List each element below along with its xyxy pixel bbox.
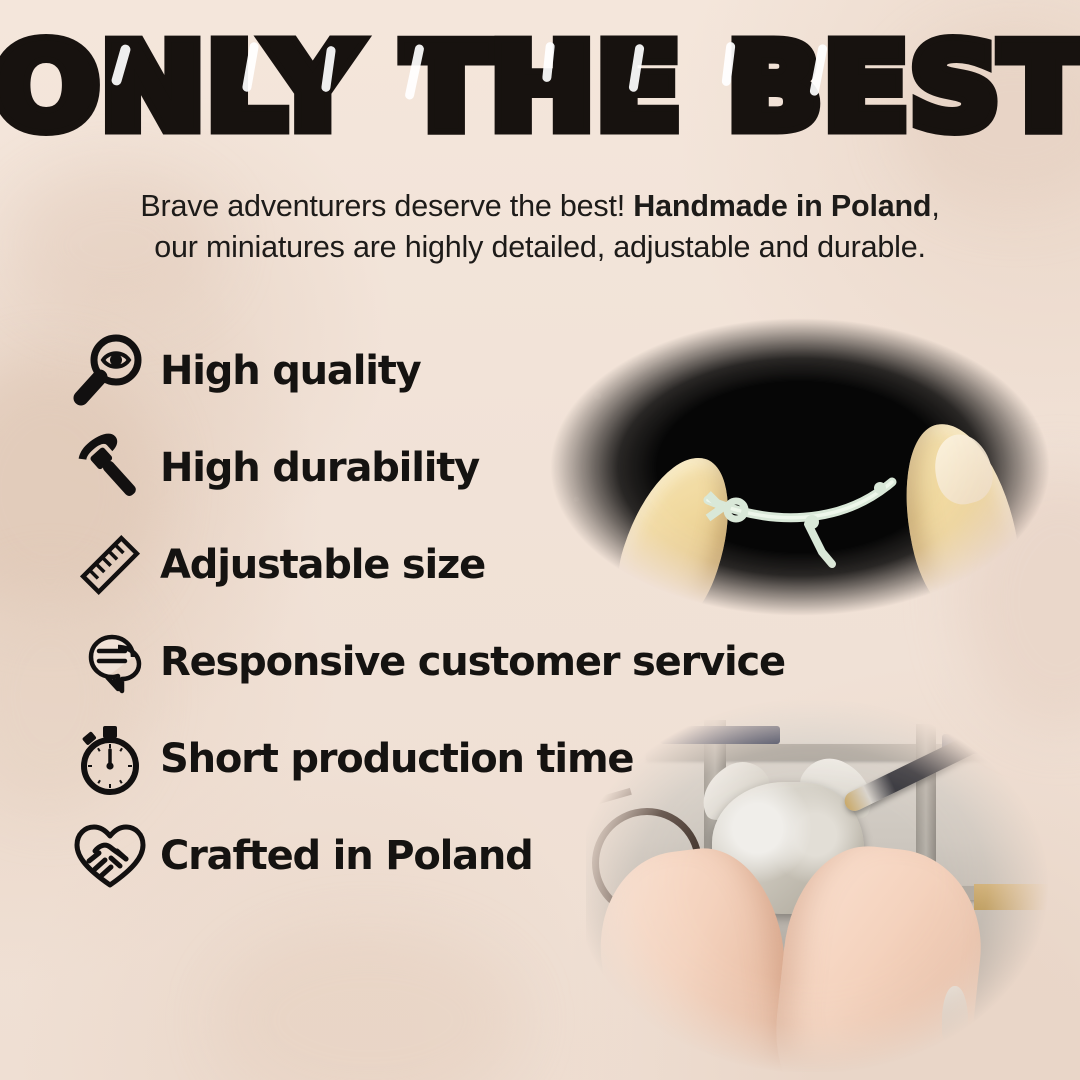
subtitle: Brave adventurers deserve the best! Hand… [0,186,1080,268]
feature-row-high-quality: High quality [64,322,824,419]
speech-bubbles-icon [64,616,156,708]
feature-row-responsive-customer-service: Responsive customer service [64,613,824,710]
wash-blotch-bottom [220,930,520,1080]
feature-label: Crafted in Poland [160,836,533,876]
subtitle-suffix: , [931,189,939,223]
ruler-icon [64,519,156,611]
title-block: ONLY THE BEST [0,28,1080,146]
small-figurine [942,986,968,1042]
poster-canvas: ONLY THE BEST Brave adventurers deserve … [0,0,1080,1080]
feature-label: High quality [160,351,421,391]
subtitle-bold-phrase: Handmade in Poland [633,189,931,223]
feature-row-short-production-time: Short production time [64,710,824,807]
heart-handshake-icon [64,810,156,902]
feature-label: Short production time [160,739,633,779]
feature-row-crafted-in-poland: Crafted in Poland [64,807,824,904]
stopwatch-icon [64,713,156,805]
wooden-board [974,884,1056,910]
subtitle-line-1: Brave adventurers deserve the best! Hand… [0,186,1080,227]
feature-label: High durability [160,448,479,488]
hammer-icon [64,422,156,514]
subtitle-line-2: our miniatures are highly detailed, adju… [0,227,1080,268]
feature-label: Adjustable size [160,545,485,585]
page-title: ONLY THE BEST [0,28,1080,146]
subtitle-prefix: Brave adventurers deserve the best! [140,189,633,223]
magnifier-eye-icon [64,325,156,417]
feature-list: High quality High durability [64,322,824,904]
feature-row-adjustable-size: Adjustable size [64,516,824,613]
feature-label: Responsive customer service [160,642,785,682]
feature-row-high-durability: High durability [64,419,824,516]
